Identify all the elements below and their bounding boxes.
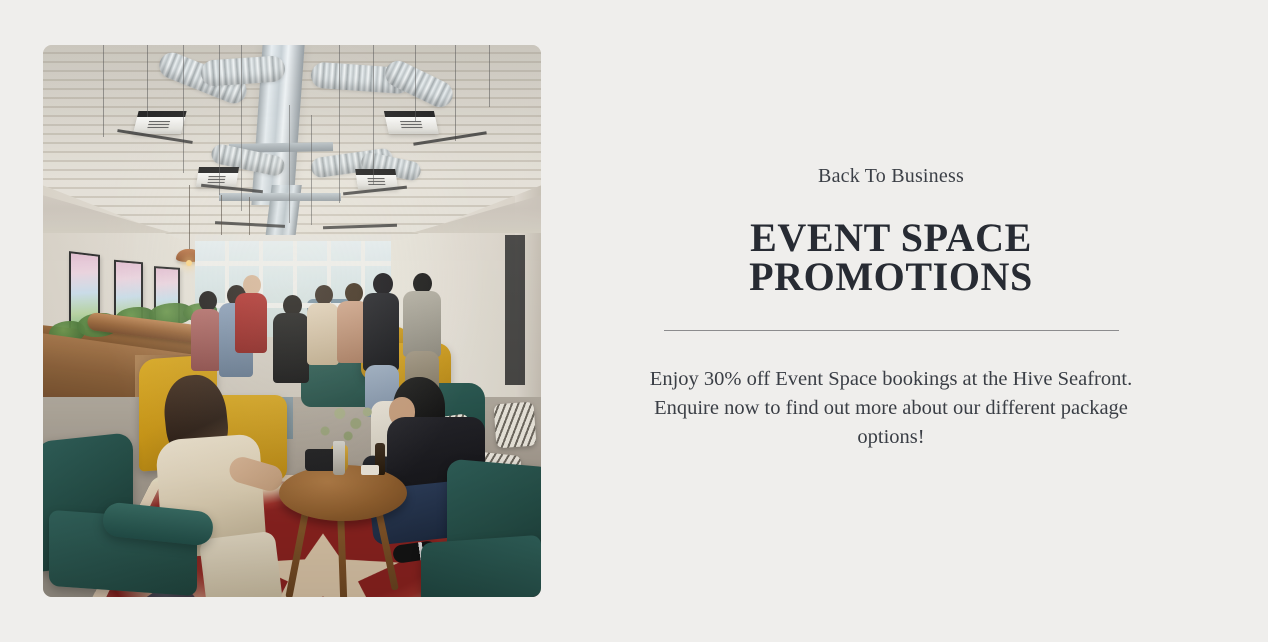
striped-cushion <box>494 402 537 449</box>
headline-line-1: EVENT SPACE <box>614 218 1168 257</box>
promo-text-panel: Back To Business EVENT SPACE PROMOTIONS … <box>614 0 1168 642</box>
ceiling-hanger-rod <box>183 45 184 173</box>
ceiling-hanger-rod <box>489 45 490 107</box>
ceiling-hanger-rod <box>219 45 220 195</box>
person-head <box>345 283 363 303</box>
person-body <box>307 303 339 365</box>
napkin <box>361 465 379 475</box>
person-head <box>315 285 333 305</box>
ceiling-hanger-rod <box>373 45 374 185</box>
event-space-photo <box>43 45 541 597</box>
event-space-promo-card: Back To Business EVENT SPACE PROMOTIONS … <box>0 0 1268 642</box>
promo-description: Enjoy 30% off Event Space bookings at th… <box>624 365 1158 452</box>
ceiling-hanger-rod <box>415 45 416 121</box>
drink-tumbler <box>333 441 345 475</box>
ceiling-hanger-rod <box>241 45 242 211</box>
ceiling-hanger-rod <box>311 115 312 225</box>
promo-eyebrow: Back To Business <box>614 163 1168 189</box>
pendant-lamp-bulb <box>186 260 192 266</box>
headline-line-2: PROMOTIONS <box>614 257 1168 296</box>
ceiling-hanger-rod <box>289 105 290 223</box>
ceiling-ac-cassette <box>133 117 185 134</box>
teal-armchair-right-seat <box>421 535 541 597</box>
person-body <box>191 309 221 371</box>
dark-doorway <box>505 235 525 385</box>
ceiling-hanger-rod <box>103 45 104 137</box>
person-head <box>243 275 261 295</box>
cross-duct-lower <box>219 193 341 201</box>
person-head <box>373 273 393 295</box>
ceiling-ac-cassette <box>385 117 439 134</box>
person-body <box>235 293 267 353</box>
person-head <box>199 291 217 311</box>
person-body <box>273 313 309 383</box>
section-divider <box>664 330 1119 331</box>
ceiling-hanger-rod <box>147 45 148 117</box>
ceiling-hanger-rod <box>339 45 340 203</box>
seated-woman-legs <box>199 531 283 597</box>
pendant-lamp-cord <box>189 185 190 251</box>
photo-scene <box>43 45 541 597</box>
person-body <box>403 291 441 357</box>
person-body <box>363 293 399 371</box>
ceiling-hanger-rod <box>455 45 456 141</box>
page-title: EVENT SPACE PROMOTIONS <box>614 218 1168 296</box>
